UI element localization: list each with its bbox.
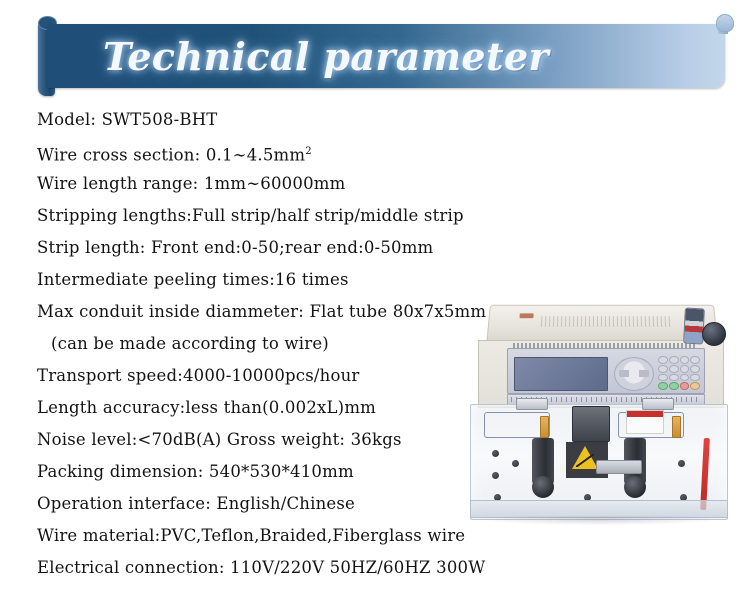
page-title: Technical parameter xyxy=(47,24,725,88)
keypad-key-green xyxy=(658,382,668,390)
machine-bolt xyxy=(492,472,499,479)
keypad-key xyxy=(690,365,700,373)
machine-control-panel xyxy=(478,340,724,408)
electric-shock-warning-icon xyxy=(572,446,598,469)
machine-bolt xyxy=(678,460,685,467)
spec-superscript: 2 xyxy=(305,146,312,157)
machine-roller-cap-left xyxy=(532,476,554,498)
spec-line: Stripping lengths:Full strip/half strip/… xyxy=(37,200,727,232)
machine-amber-post-right xyxy=(672,416,681,438)
machine-center-bracket xyxy=(596,460,642,474)
machine-drop-shadow xyxy=(480,516,718,525)
machine-bolt xyxy=(492,450,499,457)
machine-amber-post-left xyxy=(540,416,549,438)
keypad-key-orange xyxy=(690,382,700,390)
machine-latch-left xyxy=(516,398,548,410)
machine-keypad xyxy=(658,356,700,390)
machine-bolt xyxy=(512,460,519,467)
spec-line: Model: SWT508-BHT xyxy=(37,104,727,136)
keypad-key xyxy=(680,356,690,364)
keypad-key xyxy=(680,365,690,373)
keypad-key xyxy=(690,374,700,382)
keypad-key xyxy=(658,356,668,364)
machine-vent-slots xyxy=(541,316,673,327)
machine-latch-right xyxy=(642,398,674,410)
keypad-key xyxy=(690,356,700,364)
machine-roller-cap-right xyxy=(624,476,646,498)
keypad-key-green xyxy=(669,382,679,390)
keypad-key xyxy=(658,374,668,382)
machine-brand-logo xyxy=(519,313,533,318)
spec-line: Strip length: Front end:0-50;rear end:0-… xyxy=(37,232,727,264)
machine-lcd-screen xyxy=(514,357,608,391)
keypad-key xyxy=(658,365,668,373)
banner-scroll-right-cap-icon xyxy=(716,14,734,32)
machine-air-regulator xyxy=(683,308,705,345)
keypad-key xyxy=(680,374,690,382)
product-photo xyxy=(466,300,734,542)
banner-ribbon: Technical parameter xyxy=(47,24,725,88)
keypad-key-red xyxy=(680,382,690,390)
machine-adjust-knob xyxy=(702,322,726,346)
keypad-key xyxy=(669,365,679,373)
machine-blade-assembly xyxy=(572,406,610,442)
page-banner: Technical parameter xyxy=(0,0,750,96)
spec-line: Electrical connection: 110V/220V 50HZ/60… xyxy=(37,552,727,584)
machine-dpad-icon xyxy=(614,357,654,391)
machine-warning-label-red xyxy=(626,410,664,434)
spec-line: Wire cross section: 0.1∼4.5mm2 xyxy=(37,136,727,168)
spec-line: Wire length range: 1mm∼60000mm xyxy=(37,168,727,200)
spec-line: Intermediate peeling times:16 times xyxy=(37,264,727,296)
machine-panel-inner xyxy=(507,348,705,394)
keypad-key xyxy=(669,374,679,382)
keypad-key xyxy=(669,356,679,364)
